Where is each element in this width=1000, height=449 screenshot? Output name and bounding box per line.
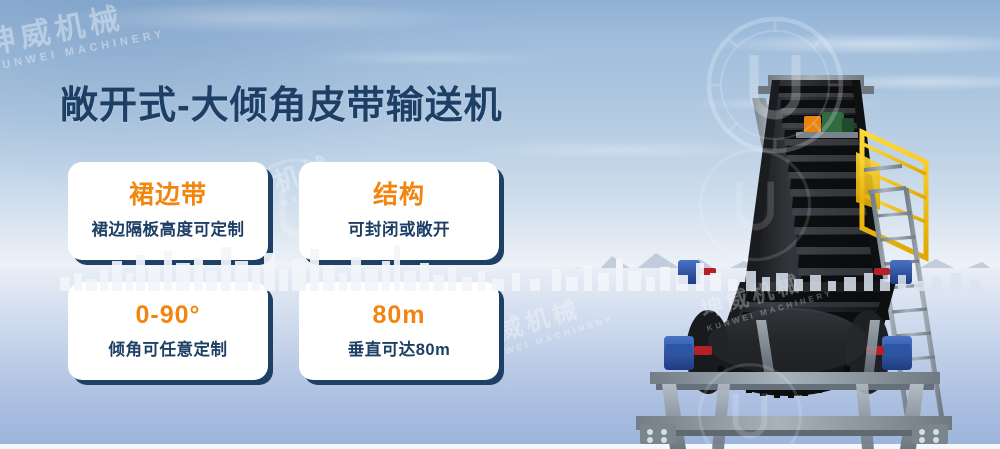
feature-card-subtitle: 裙边隔板高度可定制 xyxy=(92,216,245,240)
feature-card-title: 80m xyxy=(372,302,425,330)
feature-card-subtitle: 垂直可达80m xyxy=(348,336,451,360)
feature-card-angle-range[interactable]: 0-90° 倾角可任意定制 xyxy=(68,282,268,380)
product-banner: 坤威机械 KUNWEI MACHINERY 坤威机械 KUNWEI MACHIN… xyxy=(0,0,1000,449)
belt-conveyor-photo xyxy=(590,20,1000,449)
feature-card-max-height[interactable]: 80m 垂直可达80m xyxy=(299,282,499,380)
feature-card-subtitle: 可封闭或敞开 xyxy=(348,216,450,240)
city-skyline-foreground xyxy=(0,243,1000,291)
feature-card-title: 结构 xyxy=(373,182,425,210)
feature-card-title: 0-90° xyxy=(135,302,200,330)
feature-card-title: 裙边带 xyxy=(129,182,207,210)
feature-card-subtitle: 倾角可任意定制 xyxy=(109,336,228,360)
banner-title: 敞开式-大倾角皮带输送机 xyxy=(60,84,503,130)
